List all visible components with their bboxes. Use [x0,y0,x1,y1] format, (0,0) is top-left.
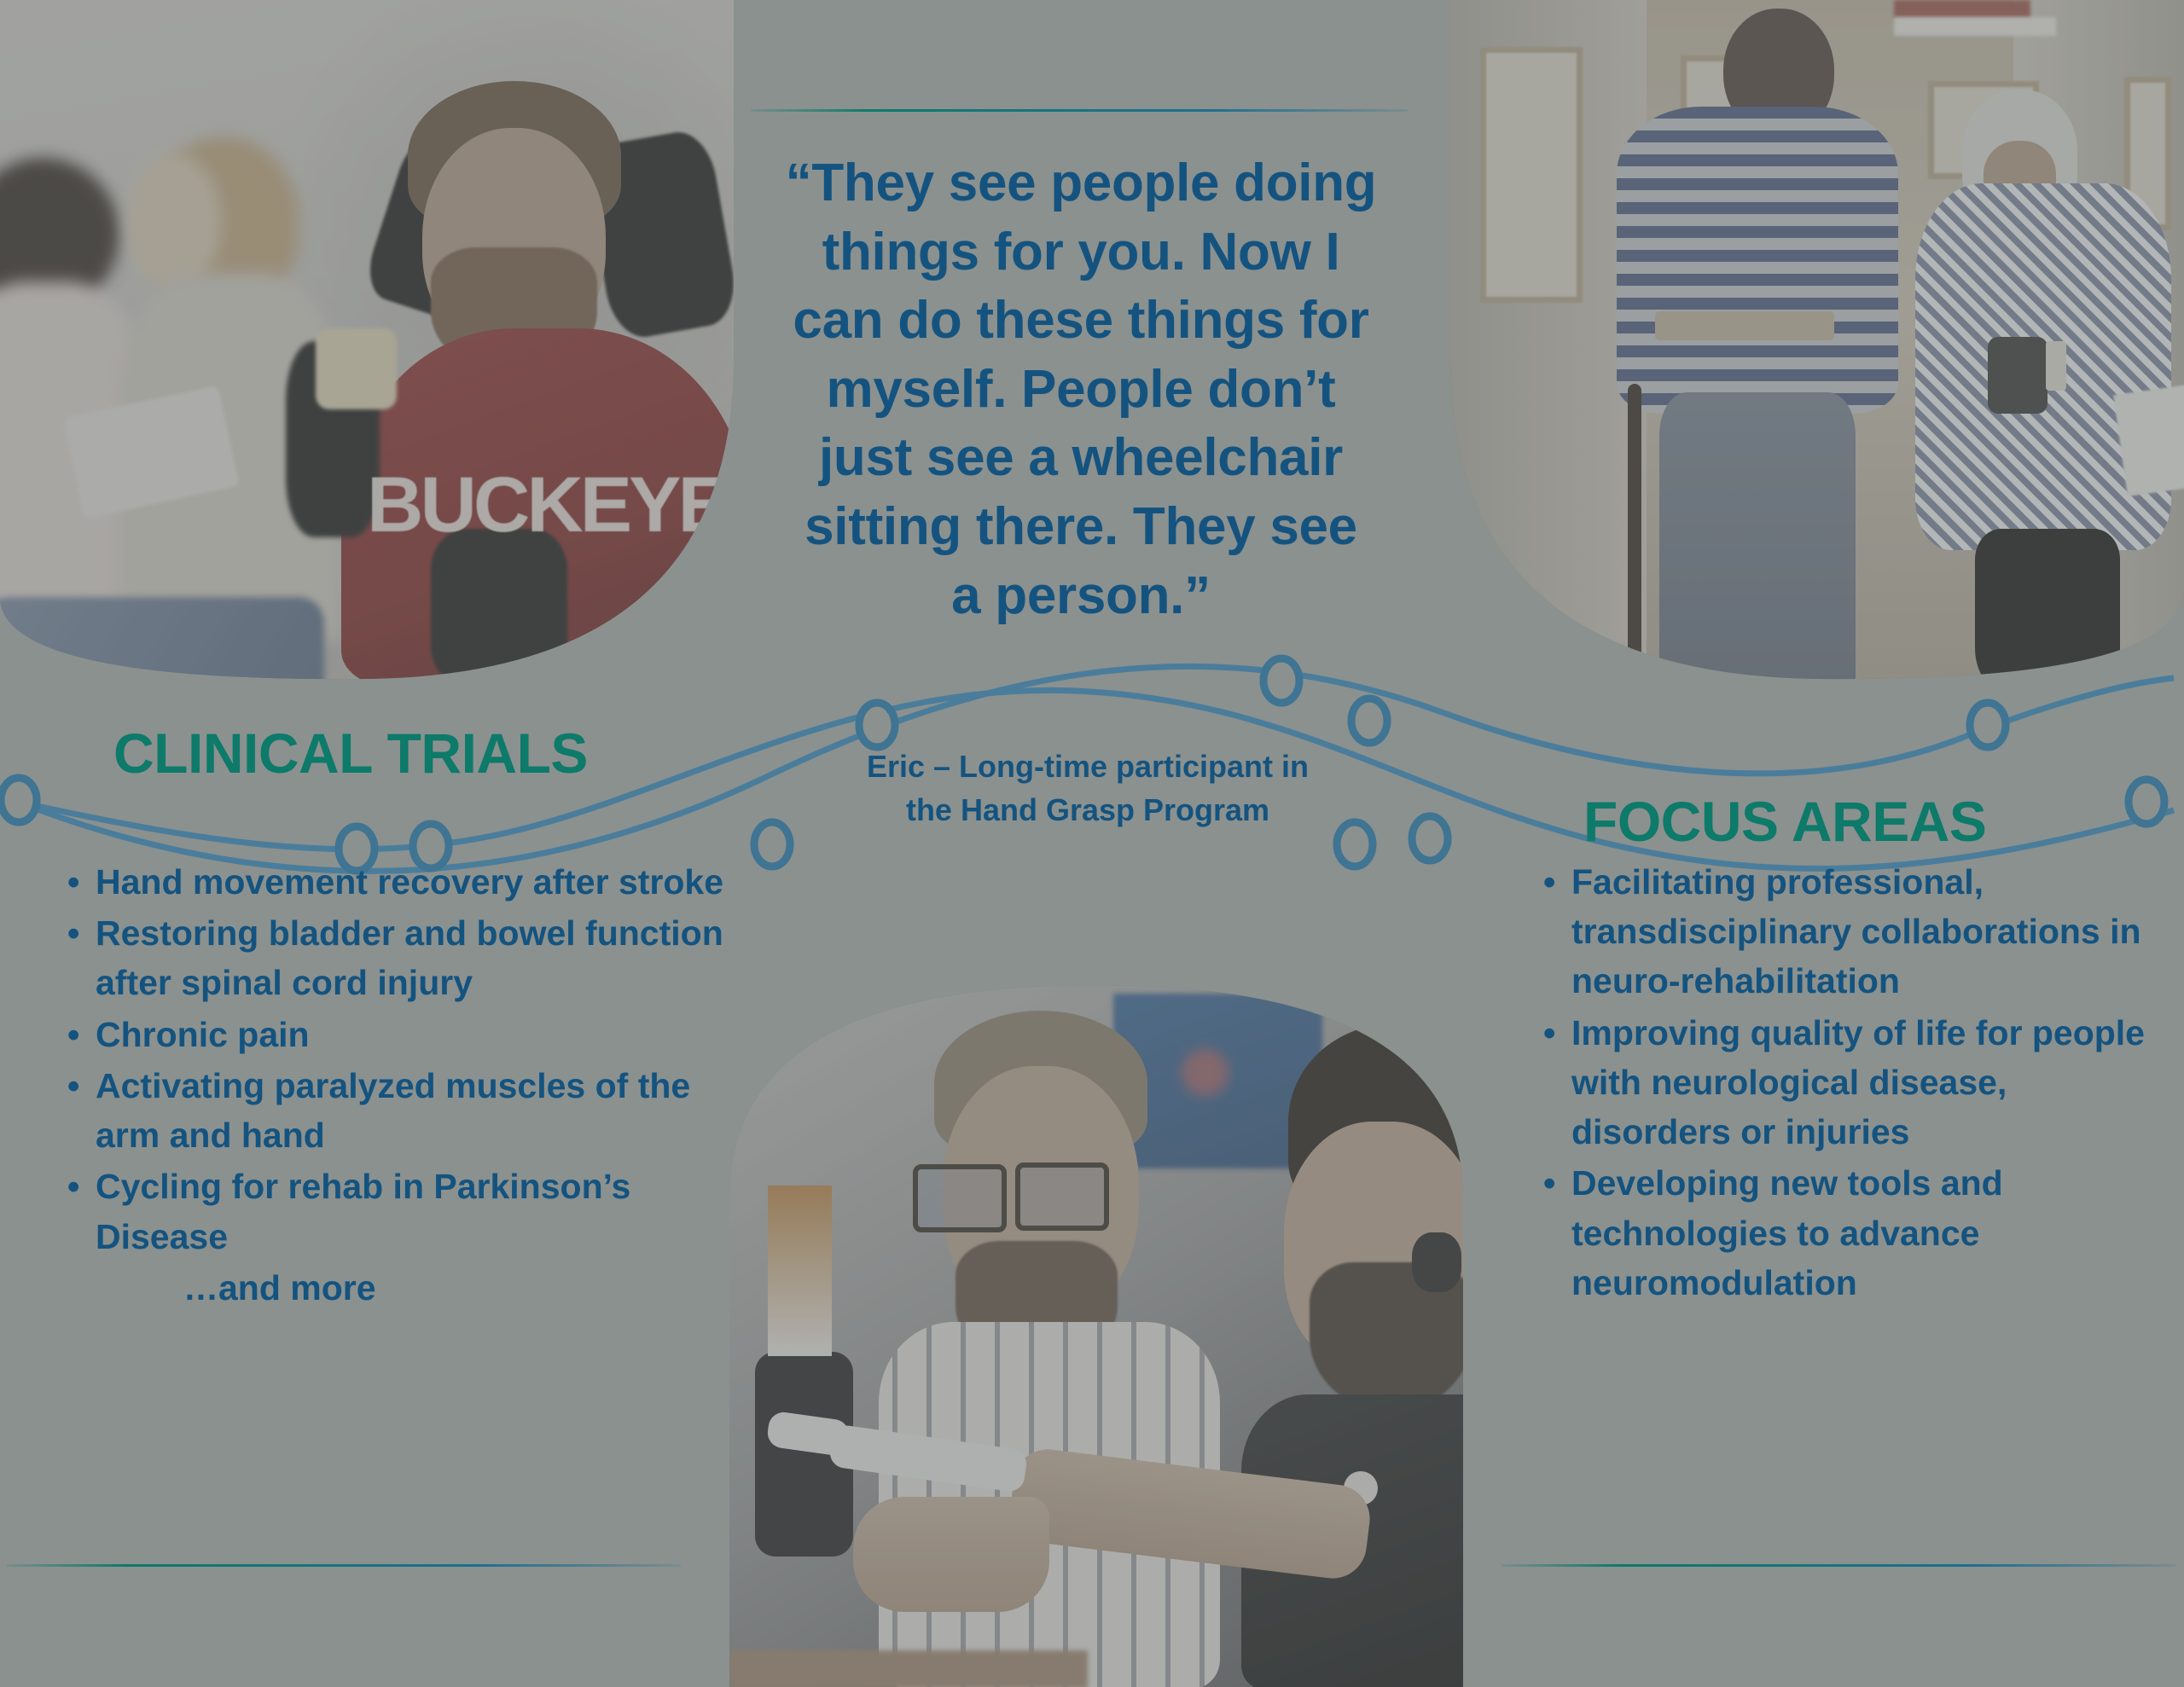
wave-node [2129,780,2164,824]
list-item-label: Facilitating professional, transdiscipli… [1571,857,2167,1006]
photo-center-artwork [729,985,1463,1687]
wave-node [1970,703,2006,747]
clinical-trials-more-label: …and more [183,1263,759,1313]
list-item-label: Developing new tools and technologies to… [1571,1158,2167,1307]
list-item: • Activating paralyzed muscles of the ar… [51,1061,759,1160]
photo-right-artwork [1450,0,2184,682]
quote-line-2: things for you. Now I [822,223,1340,281]
clinical-trials-list: • Hand movement recovery after stroke • … [51,857,759,1313]
bullet-icon: • [51,1061,96,1110]
quote-line-7-emphasis: a person.” [951,566,1211,625]
wave-node [859,703,895,747]
list-item-label: Activating paralyzed muscles of the arm … [96,1061,759,1160]
bullet-icon: • [51,857,96,907]
bullet-icon: • [51,1162,96,1211]
attribution-line-1: Eric – Long-time participant in [867,749,1309,784]
list-item-label: Hand movement recovery after stroke [96,857,759,907]
divider-top [751,109,1408,112]
quote-line-3: can do these things for [793,291,1368,350]
focus-areas-list: • Facilitating professional, transdiscip… [1527,857,2167,1309]
list-item-label: Improving quality of life for people wit… [1571,1008,2167,1157]
quote-text: “They see people doing things for you. N… [744,149,1418,630]
quote-line-6-plain: sitting there. [804,497,1133,556]
quote-line-4: myself. People don’t [827,360,1336,419]
list-item: • Facilitating professional, transdiscip… [1527,857,2167,1006]
poster-canvas: BUCKEYE [0,0,2184,1687]
list-item: • Developing new tools and technologies … [1527,1158,2167,1307]
wave-node [1263,658,1299,703]
list-item-label: Cycling for rehab in Parkinson’s Disease [96,1162,759,1261]
hallway-walking-therapy-photo [1450,0,2184,682]
photo-left-artwork: BUCKEYE [0,0,734,682]
wave-node [754,822,790,867]
bullet-icon: • [51,908,96,958]
quote-line-5: just see a wheelchair [819,428,1343,487]
list-item: • Chronic pain [51,1010,759,1059]
quote-attribution: Eric – Long-time participant in the Hand… [789,745,1386,832]
divider-bottom-right [1501,1564,2175,1567]
bullet-icon: • [1527,1008,1571,1058]
bullet-icon: • [51,1010,96,1059]
list-item-label: Restoring bladder and bowel function aft… [96,908,759,1007]
list-item: • Cycling for rehab in Parkinson’s Disea… [51,1162,759,1261]
quote-line-6-emphasis: They see [1133,497,1357,556]
wave-node [1412,816,1448,861]
attribution-line-2: the Hand Grasp Program [906,792,1269,827]
wave-node [1,778,37,822]
bullet-icon: • [1527,857,1571,907]
participant-in-wheelchair-photo: BUCKEYE [0,0,734,682]
clinical-trials-heading: CLINICAL TRIALS [113,721,588,786]
divider-bottom-left [7,1564,681,1567]
bullet-icon: • [1527,1158,1571,1208]
focus-areas-heading: FOCUS AREAS [1583,789,1986,854]
quote-line-1: “They see people doing [786,154,1377,212]
hand-therapy-session-photo [729,985,1463,1687]
list-item-label: Chronic pain [96,1010,759,1059]
list-item: • Restoring bladder and bowel function a… [51,908,759,1007]
list-item: • Hand movement recovery after stroke [51,857,759,907]
testimonial-quote: “They see people doing things for you. N… [744,149,1418,630]
wave-node [1351,699,1387,743]
list-item: • Improving quality of life for people w… [1527,1008,2167,1157]
